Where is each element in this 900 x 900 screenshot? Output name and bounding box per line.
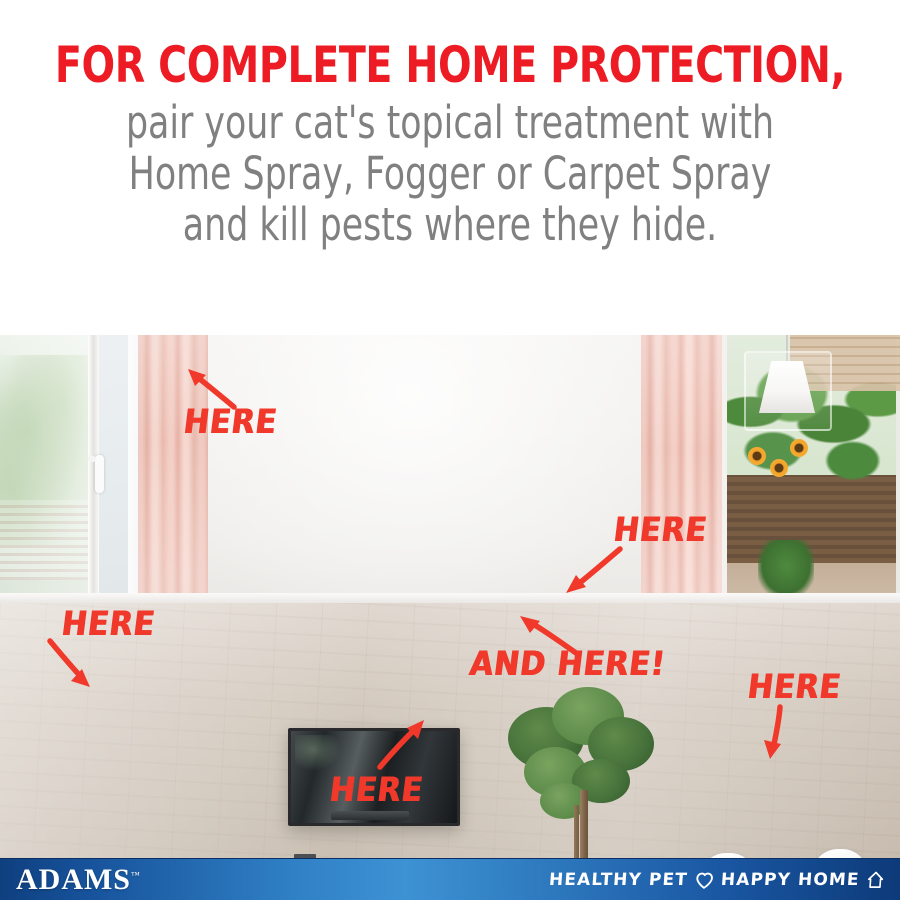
tv-reflection — [295, 735, 341, 771]
subheadline-line-2: Home Spray, Fogger or Carpet Spray — [63, 149, 837, 198]
door-handle — [95, 455, 104, 493]
home-icon — [866, 871, 884, 889]
arrow-up-right-icon — [374, 717, 430, 773]
adams-logo[interactable]: ADAMS™ — [16, 865, 140, 895]
arrow-down-right-icon — [44, 635, 104, 691]
annotation-here-rug-edge: HERE — [746, 668, 844, 707]
annotation-here-plant: HERE — [612, 511, 710, 550]
living-room-photo: HERE HERE HERE AND HERE! HERE — [0, 335, 900, 858]
annotation-and-here-floor: AND HERE! — [468, 645, 668, 684]
trademark-symbol: ™ — [131, 870, 140, 880]
arrow-down-left-icon — [556, 543, 626, 599]
page-headline: FOR COMPLETE HOME PROTECTION, — [54, 38, 846, 92]
footer-bar: ADAMS™ HEALTHY PET HAPPY HOME — [0, 858, 900, 900]
ad-creative: FOR COMPLETE HOME PROTECTION, pair your … — [0, 0, 900, 900]
heart-icon — [695, 871, 715, 888]
annotation-here-cat: HERE — [328, 771, 426, 810]
arrow-down-icon — [758, 703, 802, 761]
subheadline-line-1: pair your cat's topical treatment with — [63, 98, 837, 147]
tv-soundbar — [331, 811, 409, 820]
plant-trunk — [580, 790, 588, 858]
tagline-happy-home: HAPPY HOME — [721, 870, 861, 890]
footer-tagline: HEALTHY PET HAPPY HOME — [549, 870, 885, 890]
annotation-here-curtain: HERE — [182, 403, 280, 442]
adams-wordmark: ADAMS — [16, 863, 131, 896]
tagline-healthy-pet: HEALTHY PET — [549, 870, 689, 890]
subheadline-line-3: and kill pests where they hide. — [63, 200, 837, 249]
plant-trunk-secondary — [574, 805, 579, 858]
header-text-block: FOR COMPLETE HOME PROTECTION, pair your … — [0, 0, 900, 335]
